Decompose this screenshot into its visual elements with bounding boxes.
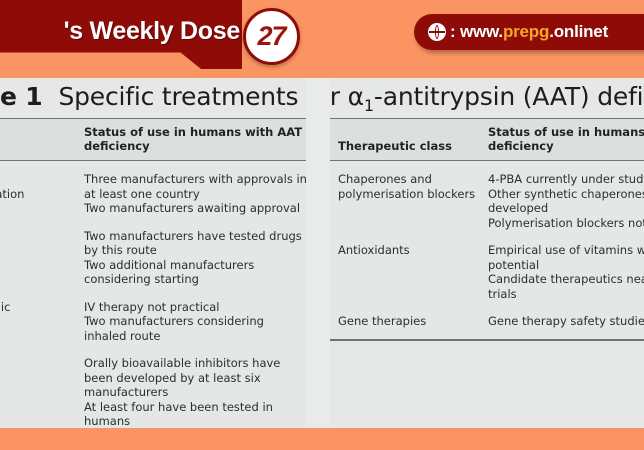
- table-left: c class Status of use in humans with AAT…: [0, 118, 308, 428]
- table-left-row3-col2: Orally bioavailable inhibitors have been…: [78, 356, 308, 428]
- page-gutter: [306, 78, 330, 428]
- table-right-row1-col2: Empirical use of vitamins with a potenti…: [482, 243, 644, 301]
- website-url-text: : www.prepg.onlinet: [450, 22, 608, 42]
- episode-badge: 27: [243, 8, 300, 65]
- url-suffix: .onlinet: [549, 22, 608, 41]
- scanned-document: e 1Specific treatments for α1-antitrypsi…: [0, 78, 644, 428]
- table-right-header-col1: Therapeutic class: [330, 139, 482, 153]
- table-row: Chaperones and polymerisation blockers 4…: [330, 163, 644, 234]
- table-left-row1-col1: ived gmentation: [0, 229, 78, 287]
- table-row: ived gmentation Two manufacturers have t…: [0, 220, 308, 291]
- table-right-row1-col1: Antioxidants: [330, 243, 482, 301]
- table-title-part-a: Specific treatments for: [58, 82, 347, 111]
- table-right-body: Chaperones and polymerisation blockers 4…: [330, 161, 644, 333]
- episode-number: 27: [246, 11, 297, 62]
- alpha-symbol: α: [348, 82, 364, 111]
- table-left-header-col2: Status of use in humans with AAT deficie…: [78, 125, 308, 153]
- table-right-row2-col2: Gene therapy safety studies abo: [482, 314, 644, 329]
- table-row: nt/transgenic on IV therapy not practica…: [0, 291, 308, 348]
- table-row: Antioxidants Empirical use of vitamins w…: [330, 234, 644, 305]
- table-right-header-row: Therapeutic class Status of use in human…: [330, 118, 644, 161]
- table-right-row2-col1: Gene therapies: [330, 314, 482, 329]
- table-left-body: ived s augmentation Three manufacturers …: [0, 161, 308, 428]
- table-row: lastase Orally bioavailable inhibitors h…: [0, 347, 308, 428]
- table-right-row0-col2: 4-PBA currently under study Other synthe…: [482, 172, 644, 230]
- table-left-row2-col1: nt/transgenic on: [0, 300, 78, 344]
- globe-icon: [428, 23, 446, 41]
- table-left-row2-col2: IV therapy not practical Two manufacture…: [78, 300, 308, 344]
- table-row: Gene therapies Gene therapy safety studi…: [330, 305, 644, 333]
- table-right: Therapeutic class Status of use in human…: [330, 118, 644, 341]
- url-prefix: : www.: [450, 22, 503, 41]
- table-left-header-col1: c class: [0, 139, 78, 153]
- table-left-header-row: c class Status of use in humans with AAT…: [0, 118, 308, 161]
- table-right-bottom-rule: [330, 339, 644, 341]
- table-left-row0-col2: Three manufacturers with approvals in at…: [78, 172, 308, 216]
- table-left-row3-col1: lastase: [0, 356, 78, 428]
- table-row: ived s augmentation Three manufacturers …: [0, 163, 308, 220]
- website-url-pill[interactable]: : www.prepg.onlinet: [414, 14, 644, 50]
- page-background: e 1Specific treatments for α1-antitrypsi…: [0, 0, 644, 450]
- banner-title: 's Weekly Dose: [0, 13, 246, 49]
- table-left-row1-col2: Two manufacturers have tested drugs by t…: [78, 229, 308, 287]
- table-right-row0-col1: Chaperones and polymerisation blockers: [330, 172, 482, 230]
- table-title-part-b: -antitrypsin (AAT) deficienc: [374, 82, 644, 111]
- table-number: e 1: [0, 82, 42, 111]
- alpha-subscript: 1: [364, 96, 374, 115]
- url-highlight: prepg: [503, 22, 549, 41]
- table-left-row0-col1: ived s augmentation: [0, 172, 78, 216]
- table-right-header-col2: Status of use in humans with A deficienc…: [482, 125, 644, 153]
